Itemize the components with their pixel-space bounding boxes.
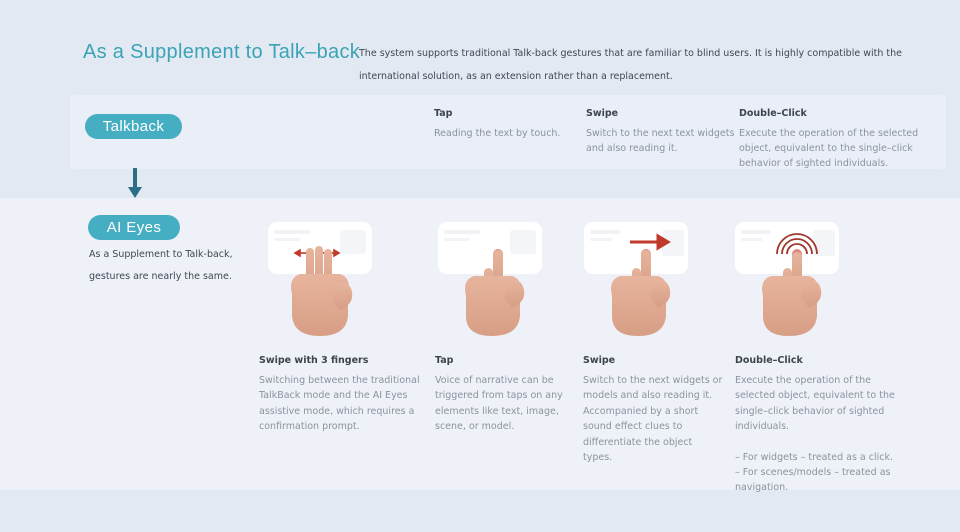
gesture-title: Tap — [435, 355, 575, 366]
hand-swipe-right-illustration — [578, 216, 706, 344]
talkback-gesture-double-click: Double–Click Execute the operation of th… — [739, 108, 919, 171]
gesture-title: Swipe — [586, 108, 736, 119]
gesture-title: Double–Click — [735, 355, 905, 366]
gesture-title: Tap — [434, 108, 584, 119]
aieyes-badge: AI Eyes — [88, 215, 180, 240]
gesture-description: Voice of narrative can be triggered from… — [435, 373, 575, 435]
gesture-description: Switch to the next text widgets and also… — [586, 126, 736, 156]
talkback-section: As a Supplement to Talk–back The system … — [0, 0, 960, 198]
page-title: As a Supplement to Talk–back — [83, 41, 360, 64]
intro-paragraph: The system supports traditional Talk-bac… — [359, 42, 939, 89]
arrow-down-icon — [128, 168, 142, 198]
gesture-description: Execute the operation of the selected ob… — [739, 126, 919, 171]
aieyes-gesture-double-click: Double–Click Execute the operation of th… — [735, 355, 905, 496]
gesture-description: Switching between the traditional TalkBa… — [259, 373, 422, 435]
gesture-description: Reading the text by touch. — [434, 126, 584, 141]
aieyes-subtitle: As a Supplement to Talk-back, gestures a… — [89, 244, 239, 289]
gesture-description: Execute the operation of the selected ob… — [735, 373, 905, 435]
gesture-title: Double–Click — [739, 108, 919, 119]
talkback-gesture-tap: Tap Reading the text by touch. — [434, 108, 584, 141]
aieyes-gesture-tap: Tap Voice of narrative can be triggered … — [435, 355, 575, 435]
hand-three-finger-swipe-illustration — [262, 216, 390, 344]
hand-double-click-illustration — [729, 216, 857, 344]
talkback-gesture-swipe: Swipe Switch to the next text widgets an… — [586, 108, 736, 156]
gesture-title: Swipe — [583, 355, 723, 366]
aieyes-badge-label: AI Eyes — [107, 219, 162, 236]
hand-tap-illustration — [432, 216, 560, 344]
talkback-badge: Talkback — [85, 114, 182, 139]
gesture-title: Swipe with 3 fingers — [259, 355, 422, 366]
gesture-extra-notes: – For widgets – treated as a click. – Fo… — [735, 450, 905, 496]
aieyes-gesture-swipe-three-fingers: Swipe with 3 fingers Switching between t… — [259, 355, 422, 435]
talkback-badge-label: Talkback — [103, 118, 165, 135]
aieyes-gesture-swipe: Swipe Switch to the next widgets or mode… — [583, 355, 723, 465]
footer-strip — [0, 490, 960, 532]
gesture-description: Switch to the next widgets or models and… — [583, 373, 723, 465]
